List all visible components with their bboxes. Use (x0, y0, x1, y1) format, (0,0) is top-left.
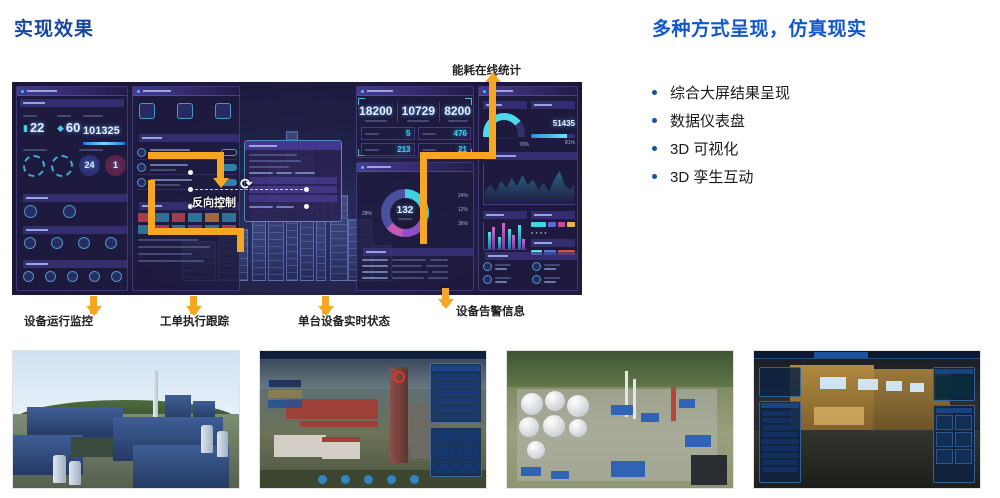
module-icon-row (24, 237, 117, 249)
nav-icon[interactable] (364, 475, 373, 484)
legend-block: ●●●● (531, 211, 575, 255)
matrix-cell[interactable] (188, 213, 202, 222)
widget-row[interactable] (762, 425, 798, 430)
metric-item (483, 275, 526, 284)
gauge-group-left (23, 149, 73, 177)
bullet-dot-icon (652, 90, 657, 95)
tile-value: 213 (397, 146, 410, 154)
radar-widget (933, 367, 975, 401)
widget-row[interactable] (762, 453, 798, 458)
module-icon[interactable] (24, 237, 36, 249)
list-item[interactable] (362, 271, 470, 273)
nav-icon[interactable] (341, 475, 350, 484)
twin-side-panel (430, 363, 482, 423)
temperature-value: 22 (30, 121, 44, 134)
kpi-icon (139, 103, 155, 119)
corner-bracket-icon (465, 98, 472, 105)
toolbar-title (814, 352, 868, 358)
list-item[interactable] (362, 265, 470, 267)
workorder-kpi-row (139, 103, 231, 119)
module-icon[interactable] (78, 237, 90, 249)
bar-chart (483, 222, 527, 250)
list-item: 综合大屏结果呈现 (652, 78, 982, 106)
storage-tank (543, 415, 565, 437)
list-item-label: 综合大屏结果呈现 (670, 82, 790, 103)
matrix-cell[interactable] (222, 213, 236, 222)
subpanel-header-devices (23, 194, 127, 202)
callout-workorder-tracking: 工单执行跟踪 (160, 313, 229, 329)
subpanel-header-systems (23, 260, 127, 268)
photo-aerial-refinery[interactable] (506, 350, 734, 489)
overlay-line-workorder (237, 228, 244, 252)
storage-tank (545, 391, 565, 411)
area-chart (483, 163, 575, 205)
metric-grid (483, 262, 575, 284)
status-dot-icon (137, 90, 140, 93)
panel-title-text (367, 166, 391, 168)
process-unit (611, 461, 645, 477)
stat-value: 10729 (402, 105, 435, 117)
factory-building (274, 435, 326, 457)
device-row (24, 205, 76, 218)
panel-title-text (367, 90, 393, 92)
area-chart-series (485, 163, 574, 203)
photo-digital-twin-cement-plant[interactable] (259, 350, 487, 489)
thermometer-icon: ▮ (23, 123, 28, 134)
kpi-icon (177, 103, 193, 119)
divider (439, 102, 440, 122)
window (910, 383, 924, 392)
subpanel-title-text (366, 251, 386, 253)
panel-header (357, 163, 473, 172)
progress-bar-track (531, 134, 575, 138)
stat-value-row: 18200 10729 8200 (357, 102, 473, 122)
stat-tile: 213 (361, 143, 415, 156)
subpanel-header-modules (23, 226, 127, 234)
progress-value: 51435 (553, 119, 575, 128)
radar-display (936, 376, 972, 398)
metric-cell (457, 430, 479, 443)
device-icon[interactable] (24, 205, 37, 218)
fault-count-badge: 1 (105, 155, 126, 176)
metric-label (83, 115, 103, 117)
legend-entry: 36% (458, 221, 468, 227)
metric-icon (532, 262, 541, 271)
twin-label-button[interactable] (268, 379, 302, 388)
storage-tank (521, 393, 543, 415)
metric-item (532, 262, 575, 271)
nav-icon[interactable] (318, 475, 327, 484)
storage-tank (569, 419, 587, 437)
status-dot-icon (483, 90, 486, 93)
flare-stack (633, 379, 636, 419)
smokestack (153, 371, 158, 419)
nav-icon[interactable] (410, 475, 419, 484)
subpanel-title-text (23, 102, 45, 104)
ring-gauge (23, 155, 45, 177)
metric-cell (433, 445, 455, 458)
page-title-right: 多种方式呈现，仿真现实 (652, 14, 867, 41)
panel-row (433, 374, 479, 380)
pallet-stack (814, 407, 864, 425)
stat-tile: 5 (361, 127, 415, 140)
stat-value: 18200 (359, 105, 392, 117)
matrix-cell[interactable] (155, 213, 169, 222)
system-icon[interactable] (111, 271, 122, 282)
device-icon[interactable] (63, 205, 76, 218)
popup-body (245, 150, 341, 212)
process-unit (521, 467, 541, 476)
roof-structure (71, 437, 113, 457)
side-widget-list (759, 401, 801, 483)
plant-structure (27, 407, 123, 437)
widget-header (761, 403, 799, 408)
panel-equipment-overview: ▮ 22 ◆ 60 101325 (16, 86, 128, 291)
overlay-line-reverse (148, 152, 224, 159)
panel-header (133, 87, 239, 96)
popup-row (249, 177, 337, 184)
stat-block: 18200 (359, 105, 392, 122)
metric-icon (532, 275, 541, 284)
subpanel-header-trend (485, 152, 577, 160)
system-icon[interactable] (67, 271, 78, 282)
callout-single-device-status: 单台设备实时状态 (298, 313, 390, 329)
storage-tank (69, 461, 81, 485)
subpanel-header-worklist (139, 134, 239, 142)
panel-header (432, 365, 480, 371)
stat-tile: 476 (418, 127, 472, 140)
secondary-list (138, 239, 236, 262)
popup-row (249, 195, 337, 202)
feature-list: 综合大屏结果呈现 数据仪表盘 3D 可视化 3D 孪生互动 (652, 78, 982, 190)
widget-header (936, 408, 972, 413)
storage-tank (217, 431, 228, 457)
widget-row[interactable] (762, 467, 798, 472)
panel-title-text (27, 90, 57, 92)
system-icon[interactable] (45, 271, 56, 282)
metric-temperature: ▮ 22 (23, 115, 44, 134)
widget-row[interactable] (762, 432, 798, 437)
overlay-arrow-reverse (213, 178, 229, 188)
subpanel-title-text (26, 197, 48, 199)
callout-device-monitoring: 设备运行监控 (24, 313, 93, 329)
subpanel-progress: 51435 81% (531, 101, 575, 146)
storage-tank (201, 425, 213, 453)
twin-label-button[interactable] (268, 400, 302, 408)
donut-legend: 24% 12% 36% (458, 193, 468, 227)
camera-tile[interactable] (936, 415, 953, 430)
status-dot-icon (361, 90, 364, 93)
popup-header (245, 141, 341, 150)
subpanel-title-text (142, 137, 162, 139)
panel-row (433, 406, 479, 412)
alarm-list (362, 259, 470, 279)
module-icon[interactable] (105, 237, 117, 249)
subpanel-header-metrics (485, 252, 577, 260)
overlay-line-energy (489, 82, 496, 152)
system-icon-row (23, 271, 122, 282)
metric-cell (457, 461, 479, 474)
panel-row (433, 390, 479, 396)
nav-icon[interactable] (387, 475, 396, 484)
camera-grid-widget (933, 405, 975, 483)
widget-row[interactable] (762, 439, 798, 444)
process-unit (679, 399, 695, 408)
panel-row (433, 398, 479, 404)
process-unit (641, 413, 659, 422)
progress-percent: 81% (531, 140, 575, 146)
twin-top-toolbar[interactable] (260, 351, 486, 360)
subpanel-header-environment (20, 99, 124, 107)
kpi-icon (215, 103, 231, 119)
legend-entry: 28% (362, 211, 372, 217)
process-unit (685, 435, 711, 447)
system-icon[interactable] (89, 271, 100, 282)
window (820, 377, 846, 389)
list-item-label: 数据仪表盘 (670, 110, 745, 131)
cooling-tower (691, 455, 727, 485)
alarm-group: 24 1 (79, 149, 126, 176)
connector-dot (188, 170, 193, 175)
metric-label (57, 115, 71, 117)
process-unit (551, 471, 569, 479)
camera-tile[interactable] (955, 432, 972, 447)
tile-value: 476 (454, 130, 467, 138)
stat-value: 8200 (444, 105, 471, 117)
camera-tile[interactable] (936, 432, 953, 447)
twin-metric-grid (430, 427, 482, 477)
list-item: 3D 可视化 (652, 134, 982, 162)
status-dot-icon (361, 166, 364, 169)
widget-row[interactable] (762, 460, 798, 465)
panel-header (17, 87, 127, 96)
corner-bracket-icon (358, 98, 365, 105)
callout-device-alarm-info: 设备告警信息 (456, 303, 525, 319)
bar-chart-block (483, 211, 527, 250)
donut-center: 132 (390, 198, 421, 229)
bullet-dot-icon (652, 118, 657, 123)
matrix-cell[interactable] (172, 213, 186, 222)
connector-dot (304, 204, 309, 209)
bullet-dot-icon (652, 174, 657, 179)
row-icon (137, 163, 146, 172)
side-widget-top (759, 367, 801, 397)
metric-cell (433, 430, 455, 443)
metric-icon (483, 275, 492, 284)
subpanel-header-alarms (363, 248, 473, 256)
subpanel-title-text (26, 229, 48, 231)
chimney (671, 387, 676, 421)
metric-item (483, 262, 526, 271)
overlay-line-workorder (148, 180, 155, 228)
metric-pressure: 101325 (83, 115, 125, 145)
storage-tank (519, 417, 539, 437)
camera-tile[interactable] (955, 449, 972, 464)
widget-row[interactable] (762, 446, 798, 451)
tile-value: 5 (406, 130, 410, 138)
stat-block: 10729 (402, 105, 435, 122)
plant-structure (133, 445, 229, 489)
overlay-label-reverse-control: 反向控制 (192, 194, 236, 210)
divider (397, 102, 398, 122)
legend-entry: 24% (458, 193, 468, 199)
building-roof (322, 437, 360, 442)
twin-label-button[interactable] (268, 390, 302, 398)
ring-gauge (51, 155, 73, 177)
callout-arrow-head (438, 299, 454, 309)
matrix-cell[interactable] (205, 213, 219, 222)
gauge-group-label (23, 149, 47, 151)
widget-row[interactable] (762, 418, 798, 423)
window (886, 381, 902, 391)
metric-cell (457, 445, 479, 458)
device-detail-popup (244, 140, 342, 222)
overlay-line-energy (420, 152, 427, 244)
conveyor (300, 421, 378, 427)
photo-interior-warehouse[interactable] (753, 350, 981, 489)
list-item[interactable] (362, 259, 470, 261)
stat-block: 8200 (444, 105, 471, 122)
metric-label (23, 115, 37, 117)
page-title-left: 实现效果 (14, 14, 94, 41)
callout-arrow-head-up (485, 72, 501, 82)
camera-tile[interactable] (936, 449, 953, 464)
process-unit (611, 405, 633, 415)
twin-bottom-nav (318, 475, 419, 484)
metric-item (532, 275, 575, 284)
metric-humidity: ◆ 60 (57, 115, 80, 134)
progress-bar-fill (531, 134, 567, 138)
panel-device-distribution: 132 24% 12% 36% 28% (356, 162, 474, 291)
row-icon (137, 178, 146, 187)
alarm-count-badge: 24 (79, 155, 100, 176)
subpanel-title-text (26, 263, 48, 265)
humidity-value: 60 (66, 121, 80, 134)
panel-production-stats: 18200 10729 8200 5 476 (356, 86, 474, 158)
list-item: 3D 孪生互动 (652, 162, 982, 190)
storage-tank (527, 441, 545, 459)
list-item[interactable] (362, 277, 470, 279)
panel-header (357, 87, 473, 96)
list-item-label: 3D 孪生互动 (670, 166, 753, 187)
window (858, 379, 878, 390)
donut-center-value: 132 (397, 206, 414, 216)
bullet-dot-icon (652, 146, 657, 151)
panel-title-text (143, 90, 171, 92)
pressure-value: 101325 (83, 125, 120, 137)
metric-icon (483, 262, 492, 271)
metric-cell (433, 461, 455, 474)
alert-marker-icon[interactable] (393, 371, 405, 383)
row-icon (137, 148, 146, 157)
alarm-group-label (79, 149, 103, 151)
overlay-line-reverse (217, 152, 224, 180)
refresh-icon[interactable]: ⟳ (240, 175, 253, 193)
panel-row (433, 382, 479, 388)
storage-tank (567, 395, 589, 417)
forest (507, 351, 733, 387)
overlay-line-energy (420, 152, 496, 159)
dashboard-screenshot: ▮ 22 ◆ 60 101325 (12, 82, 582, 295)
factory-building (322, 441, 360, 459)
pressure-bar (83, 142, 125, 145)
panel-row (433, 414, 479, 420)
system-icon[interactable] (23, 271, 34, 282)
list-item: 数据仪表盘 (652, 106, 982, 134)
widget-header (935, 369, 973, 374)
droplet-icon: ◆ (57, 123, 64, 134)
overlay-line-workorder (148, 228, 244, 235)
widget-row[interactable] (762, 411, 798, 416)
list-item-label: 3D 可视化 (670, 138, 738, 159)
legend-entry: 12% (458, 207, 468, 213)
camera-tile[interactable] (955, 415, 972, 430)
status-dot-icon (21, 90, 24, 93)
photo-3d-chemical-plant[interactable] (12, 350, 240, 489)
storage-tank (53, 455, 66, 483)
module-icon[interactable] (51, 237, 63, 249)
